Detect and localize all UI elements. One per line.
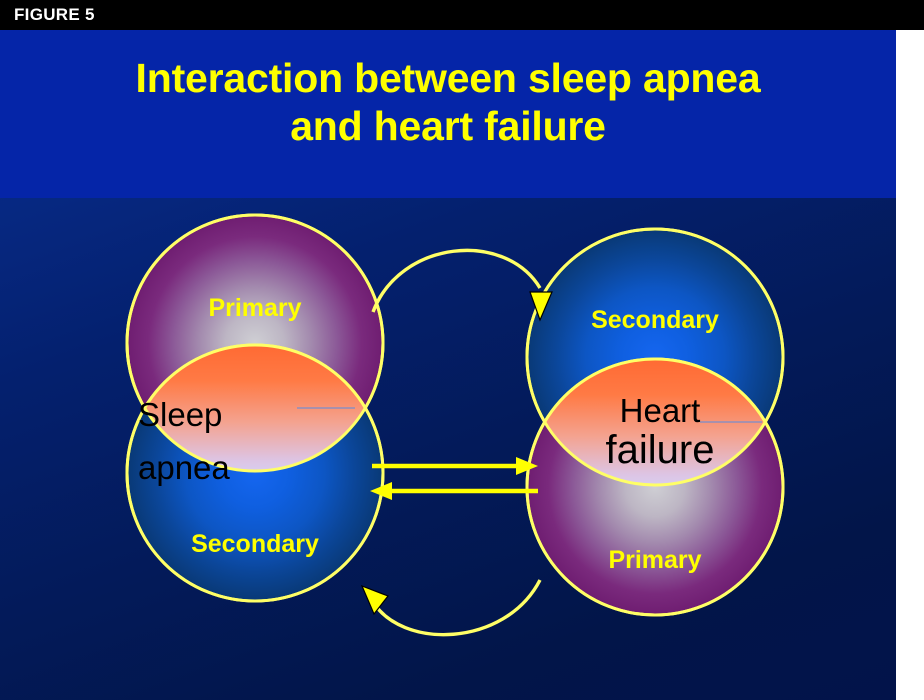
slide-canvas: Interaction between sleep apnea and hear… (0, 30, 896, 700)
slide-root: FIGURE 5 Interaction between sleep apnea… (0, 0, 924, 700)
right-venn-group (527, 229, 783, 615)
arc-top (373, 250, 540, 312)
figure-label: FIGURE 5 (14, 5, 95, 25)
venn-diagram: Primary Secondary Sleep apnea Secondary … (0, 30, 896, 700)
venn-svg (0, 30, 896, 700)
figure-bar: FIGURE 5 (0, 0, 924, 30)
arc-bottom (372, 580, 540, 635)
arc-bottom-arrowhead (362, 586, 388, 614)
straight-arrows (370, 457, 538, 500)
connector-group (372, 250, 540, 634)
left-venn-group (127, 215, 383, 601)
